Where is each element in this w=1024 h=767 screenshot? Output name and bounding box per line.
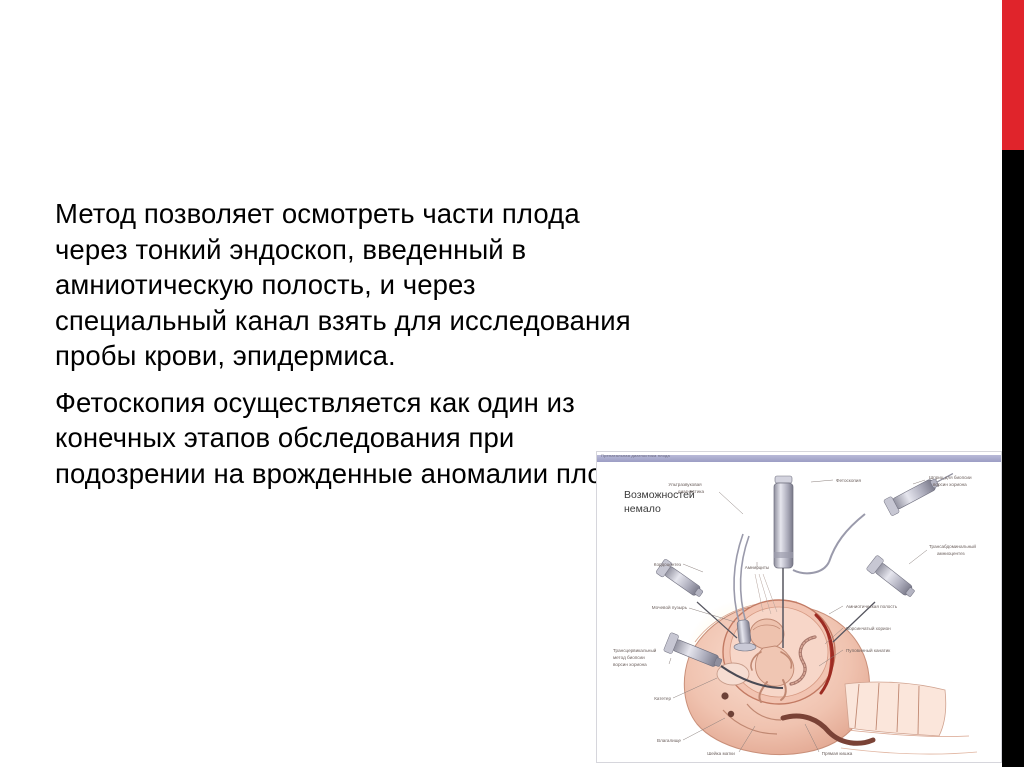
label-rectum: Прямая кишка [822,751,853,756]
black-accent-bar [1002,150,1024,767]
pelvic-detail-2 [728,711,734,717]
paragraph-2: Фетоскопия осуществляется как один из ко… [55,385,645,492]
label-transcervical-line-1: Трансцервикальный [613,647,657,653]
label-catheter: Катетер [654,696,671,701]
label-transcervical-line-2: метод биопсии [613,655,645,660]
right-edge-stripe [1002,0,1024,767]
slide-body-text: Метод позволяет осмотреть части плода че… [55,196,645,491]
label-amniocytes: Амниоциты [745,565,769,570]
sacrum-vertebrae [845,682,946,736]
label-ultrasound-line-2: диагностика [678,489,705,494]
label-ultrasound-line-1: Ультразвуковая [668,482,702,487]
label-vagina: Влагалище [657,738,681,743]
diagram-svg: Ультразвуковая диагностика Фетоскопия Шп… [597,452,1002,763]
slide: Метод позволяет осмотреть части плода че… [0,0,1024,767]
red-accent-bar [1002,0,1024,150]
label-bladder: Мочевой пузырь [652,604,688,610]
label-biopsy-syringe-line-2: ворсин хориона [933,482,967,487]
label-cordocentesis: Кордоцентез [654,562,681,567]
pelvic-detail-1 [721,692,728,699]
label-transcervical-line-3: ворсин хориона [613,662,647,667]
label-transabdominal-line-1: Трансабдоминальный [929,543,976,549]
label-umbilical-cord: Пуповинный канатик [846,647,891,653]
label-amniotic-cavity: Амниотическая полость [846,604,898,609]
label-cervix: Шейка матки [707,750,735,756]
label-transabdominal-line-2: амниоцентез [937,551,965,556]
fetoscopy-diagram-figure: Пренатальная диагностика плода Возможнос… [596,451,1002,763]
paragraph-1: Метод позволяет осмотреть части плода че… [55,196,645,374]
label-fetoscopy: Фетоскопия [836,478,861,483]
label-biopsy-syringe-line-1: Шприц для биопсии [929,475,972,480]
label-chorion: Ворсинчатый хорион [846,625,891,631]
